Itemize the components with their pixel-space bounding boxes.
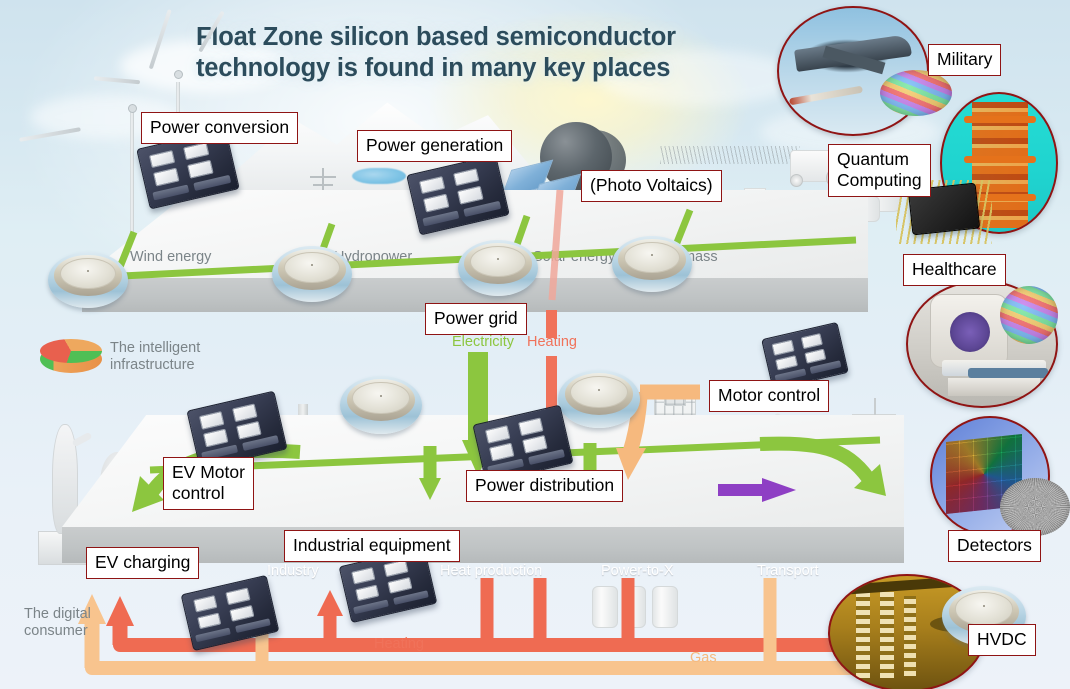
infographic-canvas: Float Zone silicon based semiconductor t… <box>0 0 1070 689</box>
ship-mast <box>874 398 876 416</box>
sector-label-power-to-x: Power-to-X <box>601 563 674 579</box>
river <box>352 168 406 184</box>
quantum-plate-2 <box>964 156 1036 163</box>
flow-label-electricity: Electricity <box>452 334 514 350</box>
callout-detectors[interactable]: Detectors <box>948 530 1041 562</box>
puzzle-cylinder-icon <box>40 337 102 377</box>
thyristor-puck-wind <box>48 252 128 308</box>
ct-base <box>948 378 1040 396</box>
callout-power-distribution[interactable]: Power distribution <box>466 470 623 502</box>
detectors-grey-wafer-icon <box>1000 478 1070 536</box>
thyristor-puck-biomass <box>612 236 692 292</box>
power-to-x-drum-3 <box>652 586 678 628</box>
annotation-intelligent-infrastructure: The intelligent infrastructure <box>110 340 200 374</box>
hvdc-valve-stack-3 <box>904 596 916 676</box>
sector-label-industry: Industry <box>267 563 319 579</box>
callout-military[interactable]: Military <box>928 44 1001 76</box>
power-to-x-drum-2 <box>622 586 646 628</box>
quantum-plate-1 <box>964 116 1036 123</box>
callout-ev-motor-control[interactable]: EV Motor control <box>163 457 254 510</box>
hvdc-valve-stack-2 <box>880 592 894 678</box>
callout-ev-charging[interactable]: EV charging <box>86 547 199 579</box>
ct-scanner-bore <box>950 312 990 352</box>
source-label-wind-energy: Wind energy <box>130 249 211 265</box>
callout-motor-control[interactable]: Motor control <box>709 380 829 412</box>
ct-table-pad <box>968 368 1048 378</box>
callout-healthcare[interactable]: Healthcare <box>903 254 1006 286</box>
callout-power-grid[interactable]: Power grid <box>425 303 527 335</box>
thyristor-puck-distribution <box>340 376 422 434</box>
flow-label-heating-bottom: Heating <box>374 636 424 652</box>
source-label-solar-energy: Solar energy <box>533 249 615 265</box>
flow-label-gas: Gas <box>690 650 717 666</box>
annotation-digital-consumer: The digital consumer <box>24 606 91 640</box>
military-wafer-icon <box>880 70 952 116</box>
sector-label-heat-production: Heat production <box>440 563 542 579</box>
callout-hvdc[interactable]: HVDC <box>968 624 1036 656</box>
power-to-x-drum-1 <box>592 586 618 628</box>
callout-industrial-equipment[interactable]: Industrial equipment <box>284 530 460 562</box>
missile-shape <box>789 86 863 106</box>
thyristor-puck-grid <box>558 370 640 428</box>
flow-label-heating-top: Heating <box>527 334 577 350</box>
pylon-crossarm <box>310 176 336 178</box>
tractor-wheel-front <box>790 174 803 187</box>
hvdc-valve-stack-1 <box>856 588 870 678</box>
healthcare-wafer-icon <box>1000 286 1058 344</box>
callout-photo-voltaics[interactable]: (Photo Voltaics) <box>581 170 722 202</box>
callout-quantum-computing[interactable]: Quantum Computing <box>828 144 931 197</box>
page-title: Float Zone silicon based semiconductor t… <box>196 22 776 84</box>
sector-label-transport: Transport <box>757 563 819 579</box>
callout-power-conversion[interactable]: Power conversion <box>141 112 298 144</box>
power-to-x-tower-top <box>664 386 686 406</box>
callout-power-generation[interactable]: Power generation <box>357 130 512 162</box>
thyristor-puck-solar <box>458 240 538 296</box>
biomass-field <box>660 146 800 164</box>
igbt-module-ev-charging <box>181 575 280 651</box>
thyristor-puck-hydro <box>272 246 352 302</box>
pylon-crossarm-2 <box>313 184 333 186</box>
